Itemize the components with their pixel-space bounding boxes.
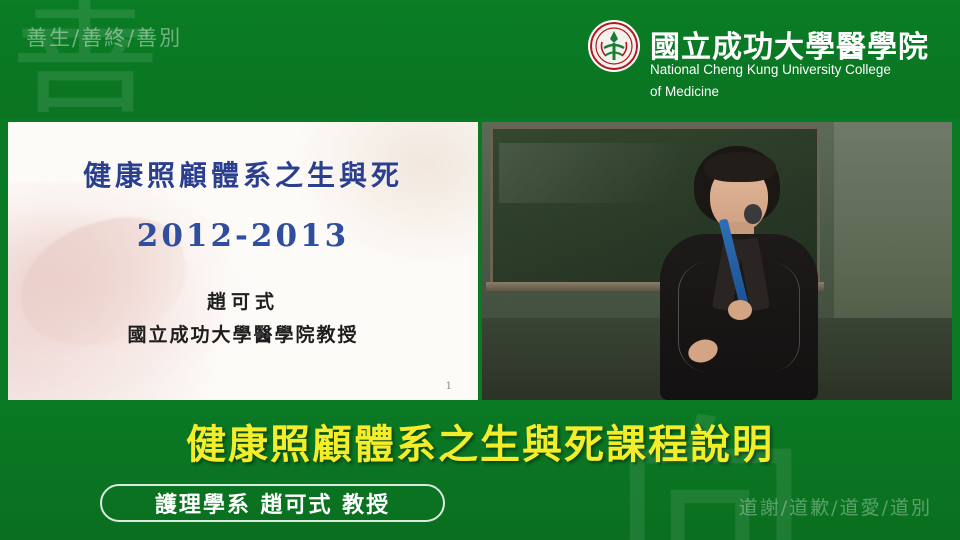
- course-title: 健康照顧體系之生與死課程說明: [0, 412, 960, 470]
- slide-page-number: 1: [446, 381, 452, 392]
- microphone-head: [744, 204, 762, 224]
- content-row: 健康照顧體系之生與死 2012-2013 趙可式 國立成功大學醫學院教授 1: [8, 122, 952, 400]
- university-name-en-line1: National Cheng Kung University College: [650, 62, 891, 77]
- header-watermark-char: 善: [10, 0, 160, 124]
- university-name-zh: 國立成功大學醫學院: [650, 22, 929, 66]
- speaker-fringe: [704, 152, 776, 182]
- speaker-badge: 護理學系 趙可式 教授: [100, 484, 445, 522]
- speaker-hand-upper: [728, 300, 752, 320]
- footer-watermark-text: 道謝/道歉/道愛/道別: [739, 493, 932, 520]
- speaker-badge-label: 護理學系 趙可式 教授: [155, 487, 390, 519]
- footer-band: 向 健康照顧體系之生與死課程說明 護理學系 趙可式 教授 道謝/道歉/道愛/道別: [0, 400, 960, 540]
- university-name-en-line2: of Medicine: [650, 84, 719, 99]
- video-frame: 善 善生/善終/善別 國立成功大學醫學院 National Cheng Kung…: [0, 0, 960, 540]
- slide-affiliation: 國立成功大學醫學院教授: [8, 320, 478, 347]
- header-watermark-text: 善生/善終/善別: [26, 22, 182, 52]
- camera-feed: [482, 122, 952, 400]
- slide-years: 2012-2013: [8, 218, 478, 254]
- ncku-crest-icon: [588, 20, 640, 72]
- slide-author: 趙可式: [8, 287, 478, 314]
- header-band: 善 善生/善終/善別 國立成功大學醫學院 National Cheng Kung…: [0, 0, 960, 118]
- presentation-slide: 健康照顧體系之生與死 2012-2013 趙可式 國立成功大學醫學院教授 1: [8, 122, 478, 400]
- slide-title: 健康照顧體系之生與死: [8, 154, 478, 194]
